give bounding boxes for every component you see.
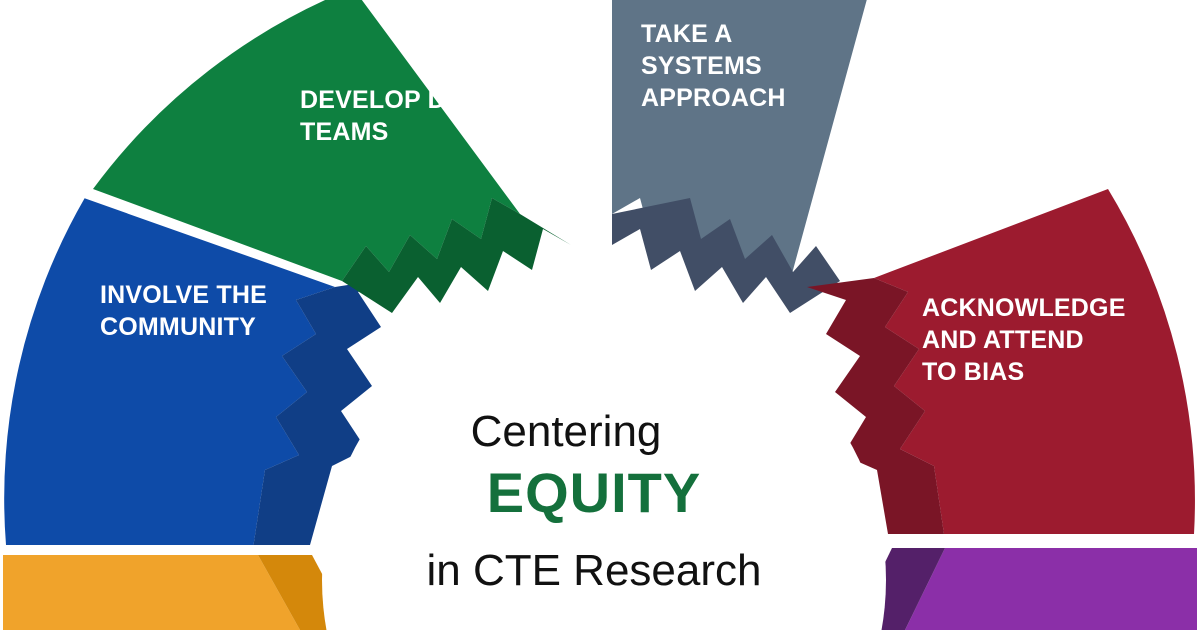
segment-purple-segment-body (905, 548, 1197, 630)
center-title-line-3: in CTE Research (426, 546, 761, 595)
infographic-canvas: INVOLVE THE COMMUNITY DEVELOP DIVERSE TE… (0, 0, 1200, 630)
equity-wheel-diagram: INVOLVE THE COMMUNITY DEVELOP DIVERSE TE… (0, 0, 1200, 630)
segment-orange-segment[interactable] (3, 555, 352, 630)
segment-orange-segment-body (3, 555, 300, 630)
center-title-line-1: Centering (471, 407, 662, 456)
center-title-equity: EQUITY (487, 461, 701, 524)
segment-purple-segment[interactable] (852, 548, 1197, 630)
